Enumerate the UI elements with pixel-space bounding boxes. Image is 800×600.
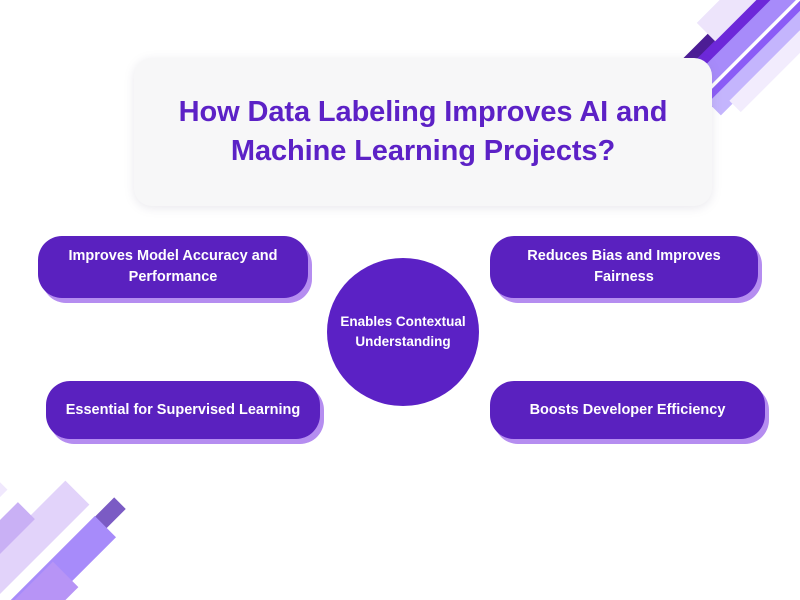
- benefit-node-boosts-developer-efficiency[interactable]: Boosts Developer Efficiency: [490, 381, 765, 439]
- benefit-label: Boosts Developer Efficiency: [530, 400, 726, 421]
- center-node-label: Enables Contextual Understanding: [333, 312, 473, 351]
- benefit-node-reduces-bias[interactable]: Reduces Bias and Improves Fairness: [490, 236, 758, 298]
- decorative-stripe: [0, 481, 89, 600]
- decorative-stripe: [0, 497, 133, 600]
- page-title: How Data Labeling Improves AI and Machin…: [160, 93, 686, 172]
- decorative-stripes-bottom-left: [0, 430, 230, 600]
- decorative-stripe: [0, 497, 146, 600]
- benefit-label: Essential for Supervised Learning: [66, 400, 301, 421]
- decorative-stripe: [0, 484, 48, 600]
- decorative-stripe: [0, 476, 7, 600]
- decorative-stripe: [697, 0, 800, 41]
- benefit-node-improves-model-accuracy[interactable]: Improves Model Accuracy and Performance: [38, 236, 308, 298]
- decorative-stripe: [0, 502, 35, 600]
- infographic-canvas: How Data Labeling Improves AI and Machin…: [0, 0, 800, 600]
- decorative-stripe: [0, 516, 116, 600]
- title-card: How Data Labeling Improves AI and Machin…: [134, 58, 712, 206]
- decorative-stripe: [708, 0, 800, 115]
- benefit-label: Reduces Bias and Improves Fairness: [506, 246, 742, 287]
- decorative-stripe: [729, 0, 800, 112]
- decorative-stripe: [0, 562, 78, 600]
- benefit-label: Improves Model Accuracy and Performance: [54, 246, 292, 287]
- benefit-node-essential-supervised-learning[interactable]: Essential for Supervised Learning: [46, 381, 320, 439]
- decorative-stripe: [699, 0, 800, 111]
- center-node-enables-contextual-understanding[interactable]: Enables Contextual Understanding: [327, 258, 479, 406]
